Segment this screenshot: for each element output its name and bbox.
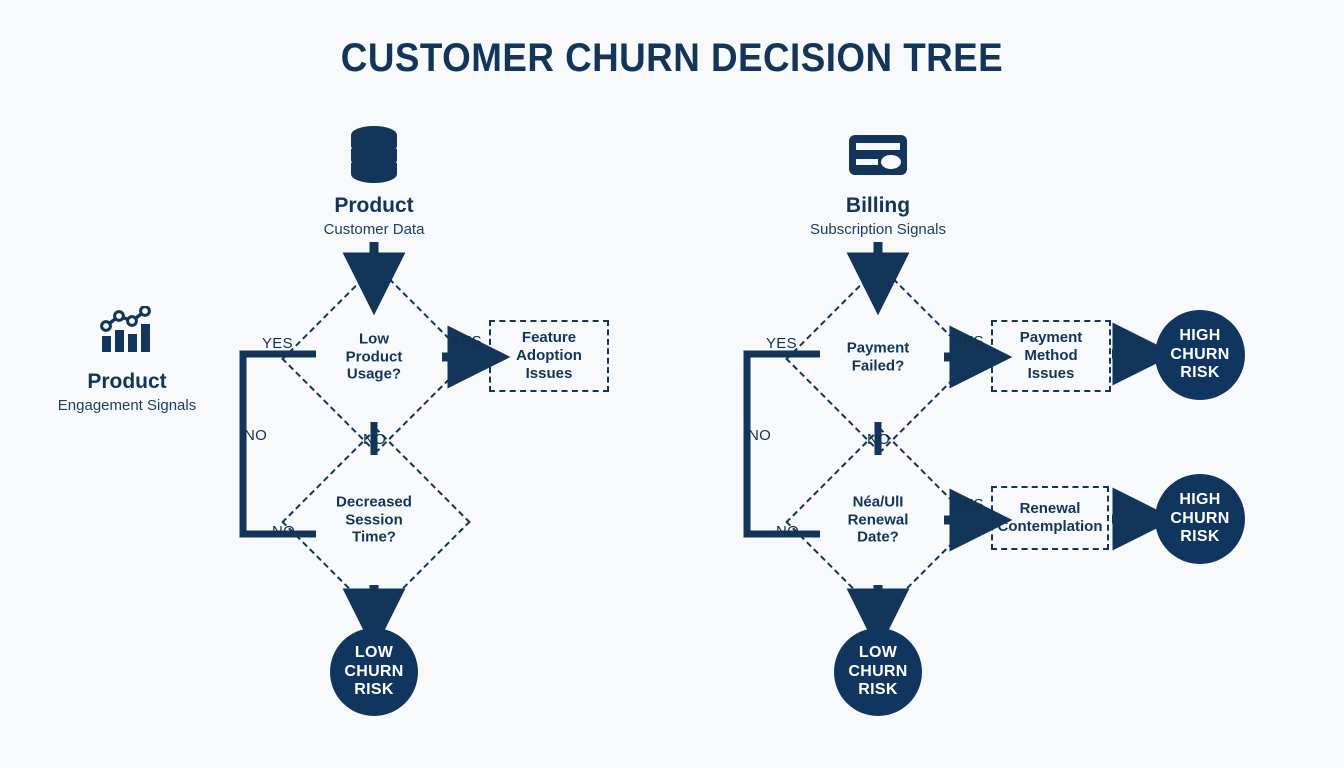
risk-line: RISK — [1170, 364, 1229, 383]
risk-line: LOW — [344, 644, 403, 663]
risk-line: CHURN — [1170, 346, 1229, 365]
risk-line: CHURN — [344, 663, 403, 682]
risk-line: RISK — [344, 681, 403, 700]
source-name: Product — [274, 194, 474, 218]
outcome-line: Issues — [516, 365, 582, 383]
outcome-line: Method — [1020, 347, 1083, 365]
edge-label-yes-payment: YES — [953, 333, 984, 350]
edge-label-no-bracket-product: NO — [244, 427, 267, 444]
decision-decreased-session-time[interactable]: Decreased Session Time? — [309, 455, 439, 585]
outcome-feature-adoption-issues[interactable]: Feature Adoption Issues — [489, 320, 609, 392]
edge-label-no-usage: NO — [363, 431, 386, 448]
outcome-line: Adoption — [516, 347, 582, 365]
decision-payment-failed[interactable]: Payment Failed? — [813, 292, 943, 422]
source-subtitle: Customer Data — [274, 221, 474, 238]
bar-chart-trend-icon — [27, 300, 227, 362]
diamond-shape — [785, 427, 975, 617]
diagram-canvas: CUSTOMER CHURN DECISION TREE — [0, 0, 1344, 768]
edge-label-no-bracket-bottom-product: NO — [272, 523, 295, 540]
outcome-line: Issues — [1020, 365, 1083, 383]
source-name: Product — [27, 370, 227, 394]
outcome-line: Renewal — [998, 500, 1103, 518]
risk-line: CHURN — [848, 663, 907, 682]
source-product-engagement: Product Engagement Signals — [27, 300, 227, 414]
outcome-line: Payment — [1020, 329, 1083, 347]
outcome-low-churn-risk-billing[interactable]: LOW CHURN RISK — [834, 628, 922, 716]
diamond-shape — [785, 264, 975, 454]
credit-card-icon — [778, 124, 978, 186]
outcome-payment-method-issues[interactable]: Payment Method Issues — [991, 320, 1111, 392]
diamond-shape — [281, 427, 471, 617]
edge-label-no-bracket-bottom-billing: NO — [776, 523, 799, 540]
diamond-shape — [281, 264, 471, 454]
edge-label-no-bracket-billing: NO — [748, 427, 771, 444]
decision-low-product-usage[interactable]: Low Product Usage? — [309, 292, 439, 422]
source-product-data: Product Customer Data — [274, 124, 474, 238]
outcome-renewal-contemplation[interactable]: Renewal Contemplation — [991, 486, 1109, 550]
decision-renewal-date[interactable]: Néa/UlI Renewal Date? — [813, 455, 943, 585]
source-name: Billing — [778, 194, 978, 218]
edge-label-yes-renewal: YES — [953, 496, 984, 513]
source-subtitle: Subscription Signals — [778, 221, 978, 238]
page-title: CUSTOMER CHURN DECISION TREE — [54, 36, 1290, 81]
edge-label-no-payment: NO — [867, 431, 890, 448]
outcome-line: Feature — [516, 329, 582, 347]
risk-line: RISK — [848, 681, 907, 700]
source-billing: Billing Subscription Signals — [778, 124, 978, 238]
edge-label-yes-bracket-billing: YES — [766, 335, 797, 352]
risk-line: LOW — [848, 644, 907, 663]
source-subtitle: Engagement Signals — [27, 397, 227, 414]
risk-line: CHURN — [1170, 510, 1229, 529]
database-icon — [274, 124, 474, 186]
outcome-low-churn-risk-product[interactable]: LOW CHURN RISK — [330, 628, 418, 716]
edge-label-yes-usage: YES — [451, 333, 482, 350]
risk-line: HIGH — [1170, 327, 1229, 346]
outcome-high-churn-risk-renewal[interactable]: HIGH CHURN RISK — [1155, 474, 1245, 564]
risk-line: RISK — [1170, 528, 1229, 547]
outcome-line: Contemplation — [998, 518, 1103, 536]
risk-line: HIGH — [1170, 491, 1229, 510]
outcome-high-churn-risk-payment[interactable]: HIGH CHURN RISK — [1155, 310, 1245, 400]
edge-label-yes-bracket-product: YES — [262, 335, 293, 352]
